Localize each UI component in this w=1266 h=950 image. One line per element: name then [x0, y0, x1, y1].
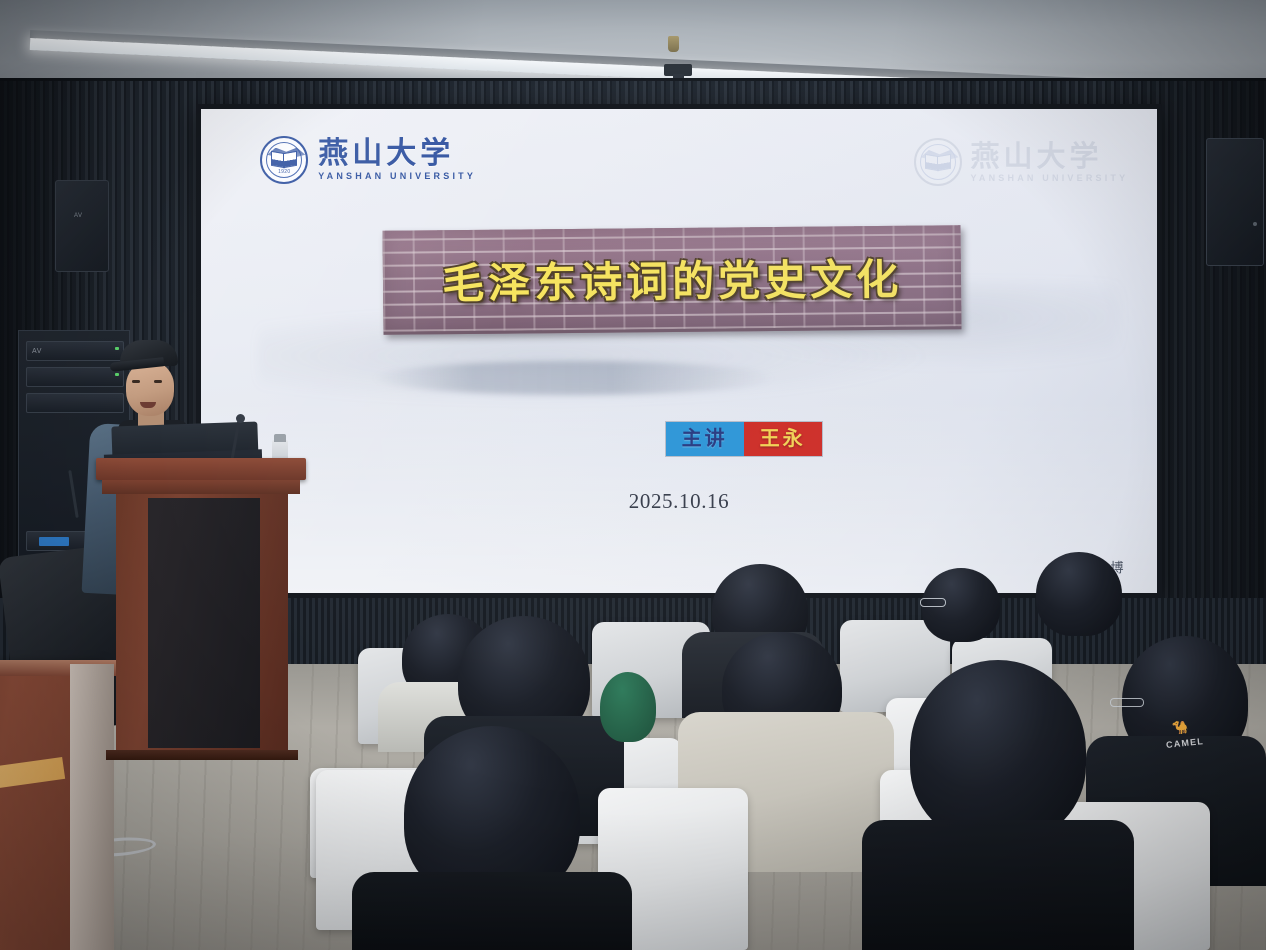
- institution-name-cn: 燕山大学: [318, 138, 476, 170]
- speaker-role-label: 主讲: [666, 422, 744, 456]
- watermark-name-block: 燕山大学 YANSHAN UNIVERSITY: [971, 141, 1129, 182]
- slide-institution-logo: 1920 燕山大学 YANSHAN UNIVERSITY: [260, 136, 476, 184]
- av-rack-label: AV: [32, 348, 42, 355]
- water-bottle-cap: [274, 434, 286, 442]
- wall-speaker-right-indicator: [1253, 222, 1257, 226]
- presenter-eye-left: [132, 380, 140, 383]
- slide-watermark-logo: 燕山大学 YANSHAN UNIVERSITY: [914, 138, 1129, 186]
- watermark-name-cn: 燕山大学: [971, 141, 1129, 171]
- podium-top: [96, 458, 306, 480]
- emblem-book-icon: [271, 152, 297, 165]
- wall-speaker-right-icon: [1206, 138, 1264, 266]
- institution-name-block: 燕山大学 YANSHAN UNIVERSITY: [318, 138, 476, 181]
- speaker-name-label: 王永: [744, 422, 822, 456]
- lecture-hall-photo: AV 1920 燕山大学 YANSHAN UNIVERSITY: [0, 0, 1266, 950]
- audience-body: [862, 820, 1134, 950]
- audience-head: [910, 660, 1086, 842]
- sprinkler-head-icon: [668, 36, 679, 52]
- podium-band: [102, 480, 300, 494]
- watermark-name-en: YANSHAN UNIVERSITY: [971, 173, 1129, 183]
- audience-head: [600, 672, 656, 742]
- yanshan-university-emblem-icon: 1920: [260, 136, 308, 184]
- wall-speaker-left-label: AV: [74, 213, 83, 219]
- wall-speaker-icon: AV: [55, 180, 109, 272]
- institution-name-en: YANSHAN UNIVERSITY: [318, 171, 476, 181]
- watermark-emblem-book-icon: [925, 155, 951, 168]
- audience: 🐪 CAMEL: [0, 520, 1266, 950]
- slide-title-banner: 毛泽东诗词的党史文化: [382, 225, 961, 335]
- microphone-icon: [236, 414, 245, 423]
- slide-title: 毛泽东诗词的党史文化: [442, 245, 903, 310]
- presenter-eye-right: [154, 380, 162, 383]
- slide-date: 2025.10.16: [629, 489, 730, 514]
- eyeglasses-icon: [920, 598, 946, 607]
- yanshan-university-watermark-icon: [914, 138, 962, 186]
- camel-logo-icon: 🐪: [1171, 719, 1189, 737]
- emblem-year: 1920: [262, 169, 306, 175]
- eyeglasses-icon: [1110, 698, 1144, 707]
- audience-head: [1036, 552, 1122, 636]
- audience-body: [352, 872, 632, 950]
- slide-speaker-block: 主讲 王永: [665, 421, 823, 457]
